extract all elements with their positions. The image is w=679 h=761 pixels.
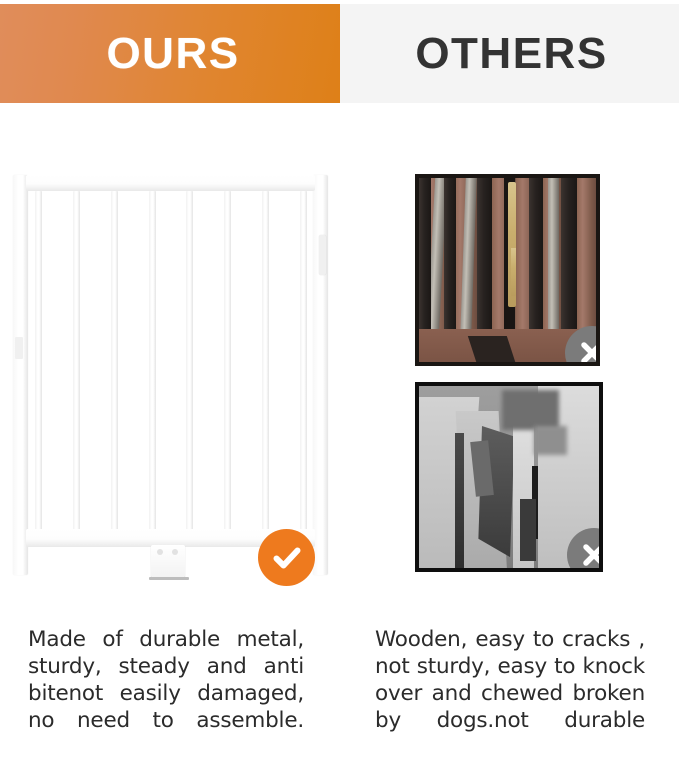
gate-bar bbox=[300, 191, 307, 530]
gate-rail-top bbox=[26, 175, 315, 191]
wood-slat bbox=[419, 178, 431, 336]
check-badge bbox=[258, 529, 315, 586]
wood-plank bbox=[577, 178, 596, 334]
metal-gate-graphic bbox=[13, 175, 328, 575]
gate-bars bbox=[35, 191, 307, 530]
gate-hinge bbox=[319, 235, 326, 275]
gate-bar bbox=[35, 191, 42, 530]
gate-bar bbox=[186, 191, 193, 530]
wood-slat bbox=[477, 178, 491, 336]
gate-foot-base bbox=[149, 577, 189, 580]
column-ours: Made of durable metal, sturdy, steady an… bbox=[0, 105, 340, 728]
gate-bar bbox=[149, 191, 156, 530]
gate-bar bbox=[224, 191, 231, 530]
caption-ours: Made of durable metal, sturdy, steady an… bbox=[28, 626, 304, 761]
wood-slat bbox=[561, 178, 577, 336]
background-blur bbox=[534, 426, 566, 455]
gate-bar bbox=[262, 191, 269, 530]
wood-slat bbox=[529, 178, 543, 336]
check-icon bbox=[269, 540, 305, 576]
header-label-others: OTHERS bbox=[411, 32, 607, 76]
wood-slat bbox=[444, 178, 456, 336]
wood-slat bbox=[548, 178, 559, 336]
x-icon bbox=[576, 337, 600, 366]
screw-hole bbox=[172, 549, 178, 555]
header-banner-ours: OURS bbox=[0, 4, 340, 103]
gate-latch bbox=[15, 337, 23, 359]
gate-mounting-foot bbox=[151, 545, 185, 577]
gate-bar bbox=[73, 191, 80, 530]
background-blur bbox=[502, 390, 560, 430]
hinge-bracket bbox=[520, 499, 536, 561]
screw-hole bbox=[157, 549, 163, 555]
product-image-metal-gate bbox=[0, 105, 340, 605]
photo-broken-wooden-door bbox=[415, 382, 603, 572]
header-banner-others: OTHERS bbox=[340, 4, 679, 103]
comparison-header: OURS OTHERS bbox=[0, 0, 679, 105]
caption-others: Wooden, easy to cracks , not sturdy, eas… bbox=[375, 626, 645, 761]
photo-content-wooden-gate bbox=[419, 178, 596, 362]
gate-base-shadow bbox=[468, 336, 515, 362]
x-icon bbox=[578, 539, 603, 571]
door-gap-shadow bbox=[455, 433, 464, 568]
header-label-ours: OURS bbox=[100, 32, 239, 76]
gate-bar bbox=[111, 191, 118, 530]
photo-chewed-wooden-gate bbox=[415, 174, 600, 366]
column-others: Wooden, easy to cracks , not sturdy, eas… bbox=[340, 105, 679, 728]
gate-frame-left bbox=[13, 175, 28, 575]
